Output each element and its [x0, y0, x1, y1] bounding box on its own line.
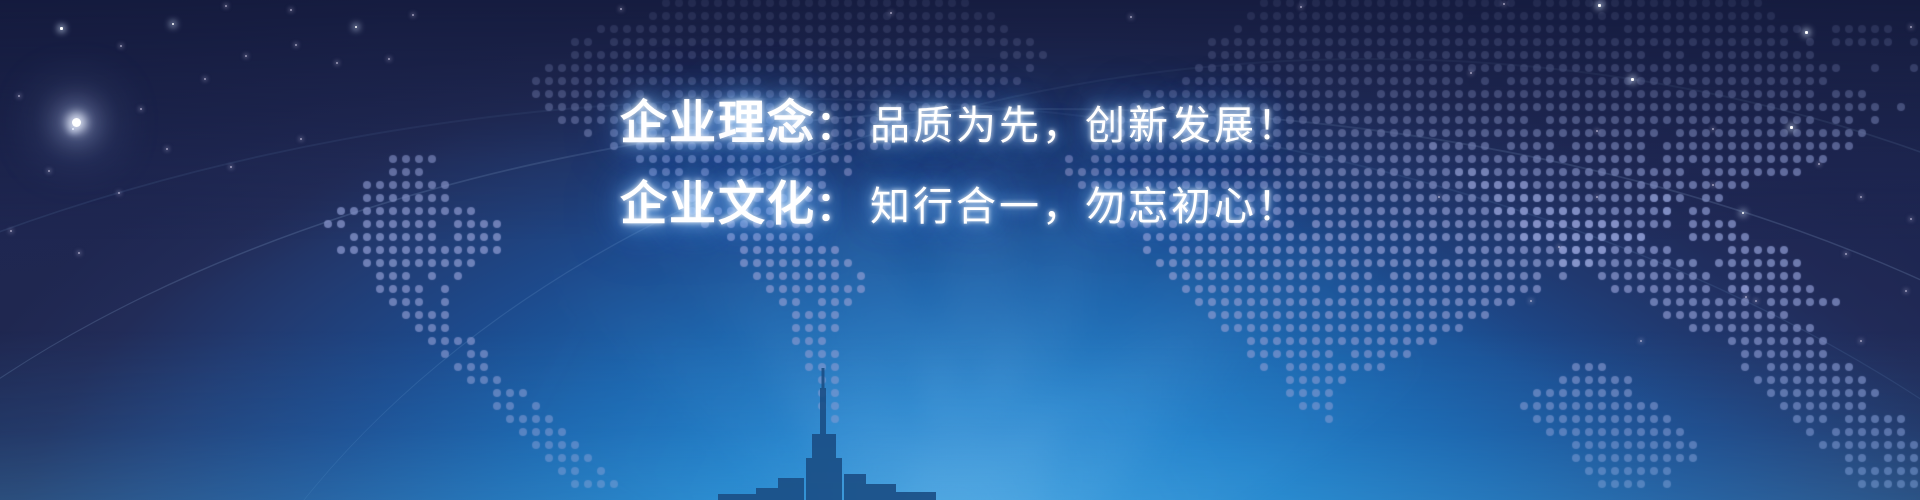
corporate-culture-banner: 企业理念：品质为先，创新发展！ 企业文化：知行合一，勿忘初心！ — [0, 0, 1920, 500]
headline-line-philosophy: 企业理念：品质为先，创新发展！ — [0, 100, 1920, 147]
philosophy-phrase: 品质为先，创新发展！ — [858, 103, 1300, 149]
culture-colon: ： — [816, 184, 858, 230]
philosophy-label: 企业理念 — [620, 96, 816, 151]
headline-block: 企业理念：品质为先，创新发展！ 企业文化：知行合一，勿忘初心！ — [0, 100, 1920, 228]
culture-phrase: 知行合一，勿忘初心！ — [858, 184, 1300, 230]
culture-label: 企业文化 — [620, 177, 816, 232]
headline-line-culture: 企业文化：知行合一，勿忘初心！ — [0, 181, 1920, 228]
city-skyline-silhouette — [0, 350, 1920, 500]
philosophy-colon: ： — [816, 103, 858, 149]
